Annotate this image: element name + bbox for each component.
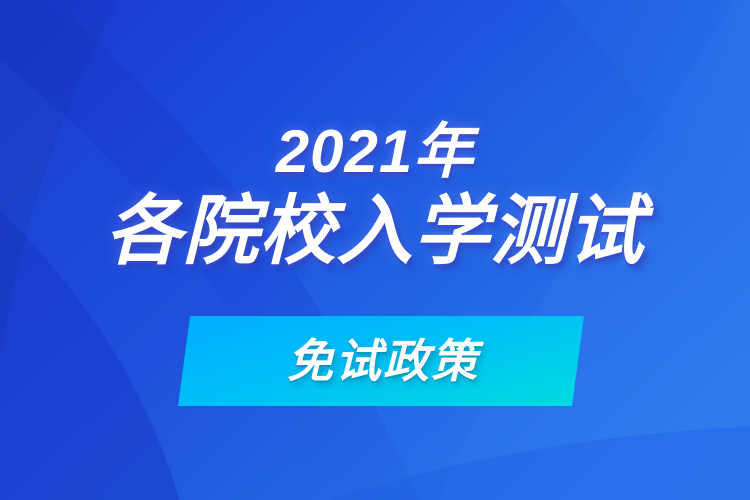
banner-content: 2021年 各院校入学测试 [0, 0, 750, 500]
headline-main: 各院校入学测试 [106, 192, 645, 272]
headline-year: 2021年 [276, 122, 474, 182]
promo-banner: 2021年 各院校入学测试 免试政策 [0, 0, 750, 500]
